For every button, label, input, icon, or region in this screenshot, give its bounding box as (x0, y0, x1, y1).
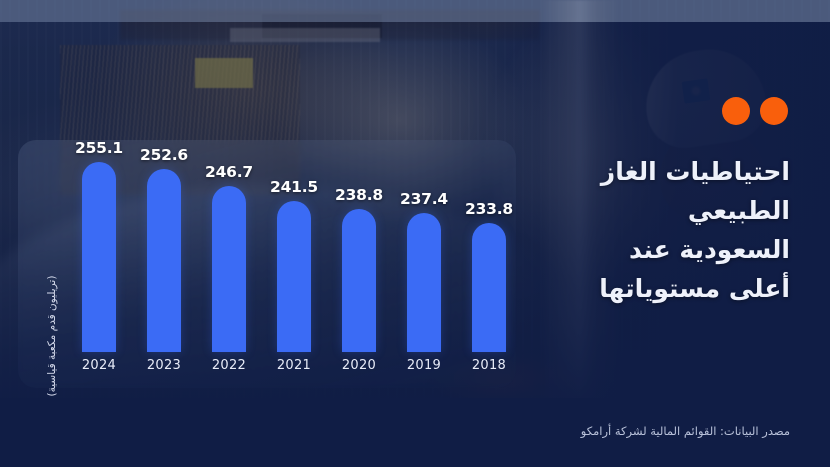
x-axis-tick: 2020 (330, 358, 388, 380)
top-strip (0, 0, 830, 22)
bar (472, 223, 506, 352)
orange-dot-icon (722, 97, 750, 125)
orange-dot-icon (760, 97, 788, 125)
bar-column: 233.8 (460, 120, 518, 352)
accent-dots (722, 97, 788, 125)
bar-series: 233.8237.4238.8241.5246.7252.6255.1 (70, 120, 518, 352)
bar-column: 241.5 (265, 120, 323, 352)
bar-column: 252.6 (135, 120, 193, 352)
headline-line-4: أعلى مستوياتها (522, 269, 790, 308)
headline-line-3: السعودية عند (522, 230, 790, 269)
bar-value-label: 237.4 (400, 190, 448, 208)
bar (212, 186, 246, 352)
x-axis-tick: 2023 (135, 358, 193, 380)
bar (82, 162, 116, 353)
headline-line-1: احتياطيات الغاز (522, 152, 790, 191)
x-axis-tick: 2018 (460, 358, 518, 380)
bar-value-label: 246.7 (205, 163, 253, 181)
bar-column: 238.8 (330, 120, 388, 352)
bar-value-label: 238.8 (335, 186, 383, 204)
headline-line-2: الطبيعي (522, 191, 790, 230)
bar (342, 209, 376, 352)
bar-value-label: 255.1 (75, 139, 123, 157)
y-axis-label: (تريليون قدم مكعبة قياسية) (41, 261, 63, 411)
x-axis-tick: 2022 (200, 358, 258, 380)
plot-area: 233.8237.4238.8241.5246.7252.6255.1 2018… (70, 120, 518, 388)
headline: احتياطيات الغاز الطبيعي السعودية عند أعل… (522, 152, 790, 308)
bar-value-label: 233.8 (465, 200, 513, 218)
x-axis-tick: 2024 (70, 358, 128, 380)
x-axis-ticks: 2018201920202021202220232024 (70, 358, 518, 380)
bar-chart: (تريليون قدم مكعبة قياسية) 233.8237.4238… (18, 120, 518, 388)
bar (407, 213, 441, 352)
x-axis-tick: 2019 (395, 358, 453, 380)
bar (147, 169, 181, 352)
bar (277, 201, 311, 352)
x-axis-tick: 2021 (265, 358, 323, 380)
bar-column: 246.7 (200, 120, 258, 352)
bar-column: 255.1 (70, 120, 128, 352)
bar-value-label: 252.6 (140, 146, 188, 164)
bar-column: 237.4 (395, 120, 453, 352)
infographic-root: (تريليون قدم مكعبة قياسية) 233.8237.4238… (0, 0, 830, 467)
bar-value-label: 241.5 (270, 178, 318, 196)
source-note: مصدر البيانات: القوائم المالية لشركة أرا… (581, 424, 790, 438)
